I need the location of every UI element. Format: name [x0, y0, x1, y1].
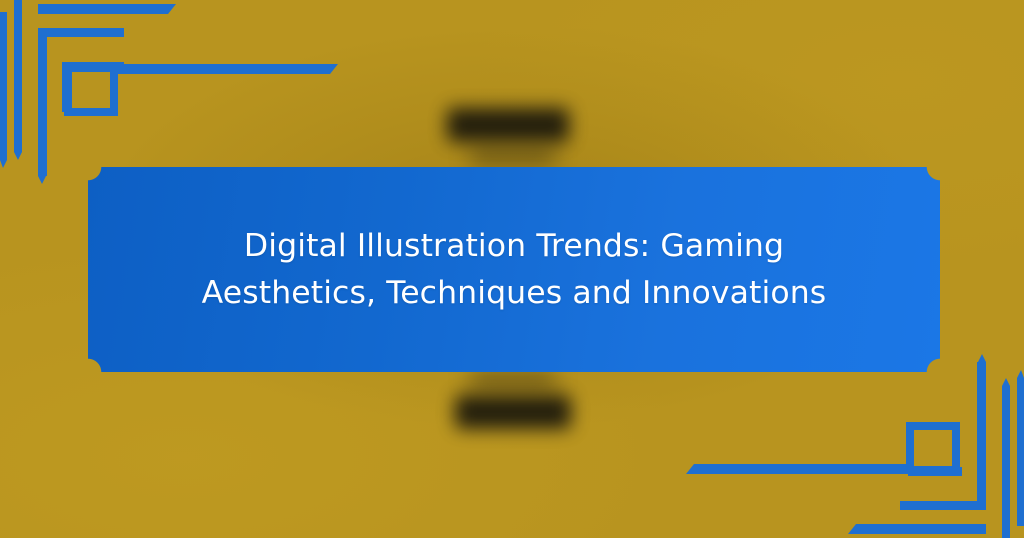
blurred-dark-plate-bottom	[455, 395, 571, 429]
title-card-canvas: Digital Illustration Trends: Gaming Aest…	[0, 0, 1024, 538]
blurred-dark-plate-top	[447, 108, 569, 142]
blurred-plate-shadow-bottom	[470, 372, 556, 388]
title-banner: Digital Illustration Trends: Gaming Aest…	[88, 167, 940, 372]
blurred-plate-shadow-top	[470, 148, 556, 164]
page-title: Digital Illustration Trends: Gaming Aest…	[140, 223, 888, 317]
